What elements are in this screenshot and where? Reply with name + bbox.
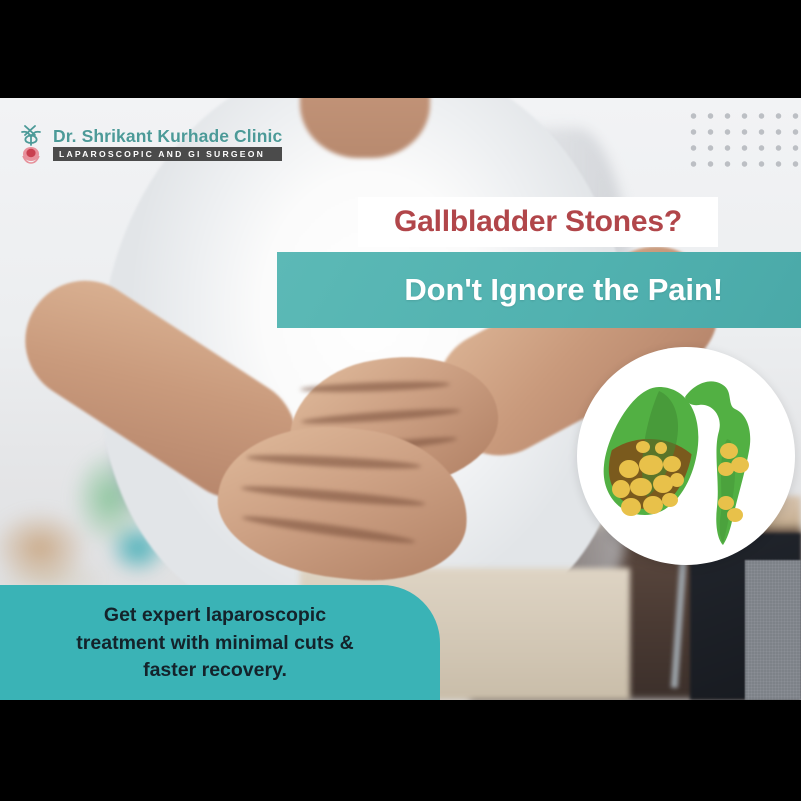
headline-strip: Gallbladder Stones? xyxy=(358,197,718,247)
background-photo: Dr. Shrikant Kurhade Clinic LAPAROSCOPIC… xyxy=(0,98,801,700)
dot-grid-icon xyxy=(683,106,801,168)
poster-canvas: Dr. Shrikant Kurhade Clinic LAPAROSCOPIC… xyxy=(0,0,801,801)
subheadline-text: Don't Ignore the Pain! xyxy=(404,272,723,308)
headline-text: Gallbladder Stones? xyxy=(394,205,682,239)
caption-box: Get expert laparoscopic treatment with m… xyxy=(0,585,440,700)
caption-line: faster recovery. xyxy=(143,657,287,685)
caption-line: Get expert laparoscopic xyxy=(104,602,326,630)
caduceus-lotus-icon xyxy=(18,123,48,165)
gallbladder-sac xyxy=(591,387,707,535)
caption-line: treatment with minimal cuts & xyxy=(76,630,353,658)
subheadline-banner: Don't Ignore the Pain! xyxy=(277,252,801,328)
letterbox-top xyxy=(0,0,801,98)
clinic-logo: Dr. Shrikant Kurhade Clinic LAPAROSCOPIC… xyxy=(18,123,282,165)
logo-text-block: Dr. Shrikant Kurhade Clinic LAPAROSCOPIC… xyxy=(53,127,282,161)
clinic-specialty-tag: LAPAROSCOPIC AND GI SURGEON xyxy=(53,147,282,161)
letterbox-bottom xyxy=(0,700,801,801)
gallbladder-with-gallstones-illustration xyxy=(577,347,795,565)
chair-mesh-back xyxy=(745,560,801,700)
clinic-name: Dr. Shrikant Kurhade Clinic xyxy=(53,127,282,145)
